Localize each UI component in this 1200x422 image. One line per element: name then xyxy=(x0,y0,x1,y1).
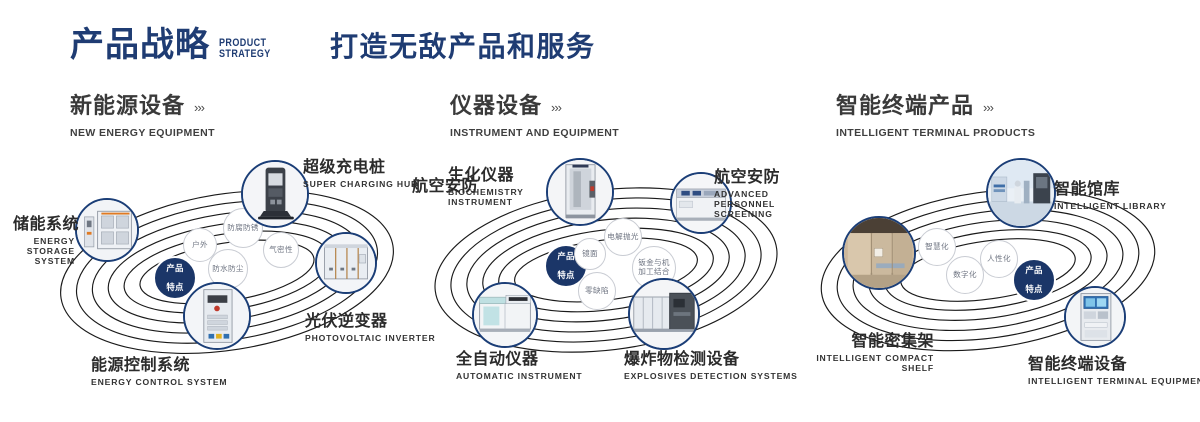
section-title-instrument: 仪器设备 ››› INSTRUMENT AND EQUIPMENT xyxy=(450,96,619,139)
diagram-cluster-new-energy: 产品特点 户外 防腐防锈 防水防尘 气密性 xyxy=(55,160,400,375)
label-energy-storage-system: 储能系统 ENERGY STORAGE SYSTEM xyxy=(13,215,75,266)
analyzer-icon xyxy=(474,284,536,346)
label-aviation-security: 航空安防 xyxy=(412,177,478,196)
label-advanced-personnel-screening: 航空安防 ADVANCED PERSONNEL SCREENING xyxy=(714,168,800,219)
node-super-charging-hub[interactable] xyxy=(241,160,309,228)
diagram-cluster-instrument: 产品特点 镜面 电解抛光 零缺陷 钣金与机加工结合 xyxy=(428,160,788,375)
node-biochemistry-instrument[interactable] xyxy=(546,158,614,226)
node-photovoltaic-inverter[interactable] xyxy=(315,232,377,294)
chevrons-icon: ››› xyxy=(983,101,993,114)
section-title-cn: 仪器设备 xyxy=(450,96,542,118)
page-slogan: 打造无敌产品和服务 xyxy=(330,33,596,61)
section-title-new-energy: 新能源设备 ››› NEW ENERGY EQUIPMENT xyxy=(70,96,215,139)
label-energy-control-system: 能源控制系统 ENERGY CONTROL SYSTEM xyxy=(91,356,227,387)
node-intelligent-library[interactable] xyxy=(986,158,1056,228)
section-title-en: NEW ENERGY EQUIPMENT xyxy=(70,127,215,139)
section-title-en: INSTRUMENT AND EQUIPMENT xyxy=(450,127,619,139)
feature-bubble-smart: 智慧化 xyxy=(918,228,956,266)
feature-bubble-airtight: 气密性 xyxy=(263,232,299,268)
core-bubble-product-features: 产品特点 xyxy=(1014,260,1054,300)
compact-shelf-icon xyxy=(844,218,914,288)
detection-cabinet-icon xyxy=(630,280,698,348)
node-energy-control-system[interactable] xyxy=(183,282,251,350)
label-intelligent-compact-shelf: 智能密集架 INTELLIGENT COMPACT SHELF xyxy=(808,332,934,373)
section-title-en: INTELLIGENT TERMINAL PRODUCTS xyxy=(836,127,1035,139)
security-gate-icon xyxy=(548,160,612,224)
chevrons-icon: ››› xyxy=(194,101,204,114)
node-explosives-detection-systems[interactable] xyxy=(628,278,700,350)
node-automatic-instrument[interactable] xyxy=(472,282,538,348)
library-room-icon xyxy=(988,160,1054,226)
feature-bubble-humanized: 人性化 xyxy=(980,240,1018,278)
inverter-cabinet-icon xyxy=(317,234,375,292)
page-title-en-line2: STRATEGY xyxy=(219,49,271,60)
label-super-charging-hub: 超级充电桩 SUPER CHARGING HUB xyxy=(303,158,418,189)
label-intelligent-library: 智能馆库 INTELLIGENT LIBRARY xyxy=(1054,180,1167,211)
diagram-cluster-intelligent-terminal: 产品特点 智慧化 数字化 人性化 xyxy=(818,160,1168,375)
poster-canvas: 产品战略 PRODUCT STRATEGY 打造无敌产品和服务 新能源设备 ››… xyxy=(0,0,1200,422)
label-explosives-detection-systems: 爆炸物检测设备 EXPLOSIVES DETECTION SYSTEMS xyxy=(624,350,798,381)
section-title-intelligent-terminal: 智能终端产品 ››› INTELLIGENT TERMINAL PRODUCTS xyxy=(836,96,1035,139)
label-intelligent-terminal-equipment: 智能终端设备 INTELLIGENT TERMINAL EQUIPMENT xyxy=(1028,355,1200,386)
charging-pile-icon xyxy=(243,162,307,226)
node-energy-storage-system[interactable] xyxy=(75,198,139,262)
section-title-cn: 新能源设备 xyxy=(70,96,185,118)
feature-bubble-digital: 数字化 xyxy=(946,256,984,294)
page-title: 产品战略 PRODUCT STRATEGY xyxy=(70,28,282,62)
label-photovoltaic-inverter: 光伏逆变器 PHOTOVOLTAIC INVERTER xyxy=(305,312,436,343)
kiosk-icon xyxy=(1066,288,1124,346)
battery-cabinet-icon xyxy=(77,200,137,260)
feature-bubble-mirror: 镜面 xyxy=(574,238,606,270)
section-title-cn: 智能终端产品 xyxy=(836,96,974,118)
page-title-en: PRODUCT STRATEGY xyxy=(219,38,271,60)
node-intelligent-terminal-equipment[interactable] xyxy=(1064,286,1126,348)
page-title-cn: 产品战略 xyxy=(70,28,210,62)
node-intelligent-compact-shelf[interactable] xyxy=(842,216,916,290)
feature-bubble-zero-defect: 零缺陷 xyxy=(578,272,616,310)
label-automatic-instrument: 全自动仪器 AUTOMATIC INSTRUMENT xyxy=(456,350,582,381)
control-cabinet-icon xyxy=(185,284,249,348)
chevrons-icon: ››› xyxy=(551,101,561,114)
